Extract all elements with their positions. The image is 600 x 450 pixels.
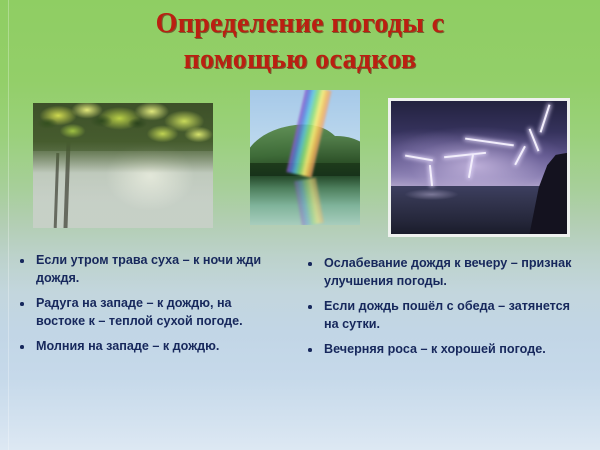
photo-rainbow-over-lake: [250, 90, 360, 225]
bullet-list-left: Если утром трава суха – к ночи жди дождя…: [14, 252, 276, 364]
list-item: Если утром трава суха – к ночи жди дождя…: [14, 252, 276, 287]
page-title: Определение погоды с помощью осадков: [0, 6, 600, 78]
page-title-line-1: Определение погоды с: [0, 6, 600, 42]
bullet-list-right: Ослабевание дождя к вечеру – признак улу…: [302, 255, 572, 367]
photo-leaves-in-rain: [33, 103, 213, 228]
storm-sky: [391, 101, 567, 189]
list-item: Если дождь пошёл с обеда – затянется на …: [302, 298, 572, 333]
list-item: Вечерняя роса – к хорошей погоде.: [302, 341, 572, 359]
photo-lightning-over-sea: [388, 98, 570, 237]
list-item: Радуга на западе – к дождю, на востоке к…: [14, 295, 276, 330]
list-item: Молния на западе – к дождю.: [14, 338, 276, 356]
photo-inner: [391, 101, 567, 234]
dark-leaves: [33, 103, 213, 163]
list-item: Ослабевание дождя к вечеру – признак улу…: [302, 255, 572, 290]
slide: Определение погоды с помощью осадков: [0, 0, 600, 450]
page-title-line-2: помощью осадков: [0, 42, 600, 78]
